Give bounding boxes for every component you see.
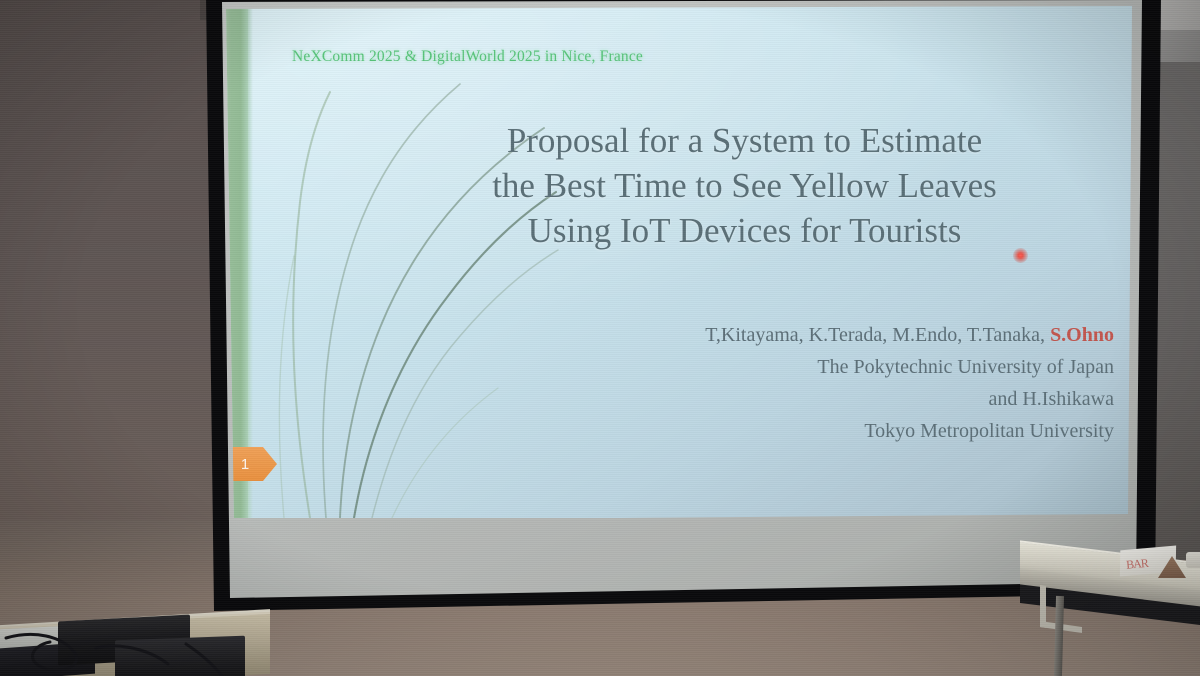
title-line-1: Proposal for a System to Estimate — [372, 118, 1117, 163]
slide-header-conference: NeXComm 2025 & DigitalWorld 2025 in Nice… — [292, 48, 643, 66]
black-device-front — [115, 636, 245, 676]
laser-pointer-dot-icon — [1013, 248, 1028, 263]
cup-on-table — [1186, 552, 1200, 568]
slide-authors-block: T,Kitayama, K.Terada, M.Endo, T.Tanaka, … — [414, 319, 1114, 447]
conference-room-photo: NeXComm 2025 & DigitalWorld 2025 in Nice… — [0, 0, 1200, 676]
presentation-slide: NeXComm 2025 & DigitalWorld 2025 in Nice… — [222, 6, 1132, 518]
affiliation-line-3: Tokyo Metropolitan University — [414, 415, 1114, 447]
slide-band-edge — [248, 6, 253, 518]
affiliation-line-2: and H.Ishikawa — [414, 383, 1114, 415]
author-names-plain: T,Kitayama, K.Terada, M.Endo, T.Tanaka, — [705, 324, 1050, 346]
title-line-2: the Best Time to See Yellow Leaves — [372, 163, 1117, 208]
affiliation-line-1: The Pokytechnic University of Japan — [414, 351, 1114, 383]
author-highlighted-name: S.Ohno — [1050, 324, 1114, 346]
author-names-line: T,Kitayama, K.Terada, M.Endo, T.Tanaka, … — [414, 319, 1114, 351]
title-line-3: Using IoT Devices for Tourists — [372, 208, 1117, 253]
slide-page-number-badge: 1 — [227, 447, 277, 481]
slide-title: Proposal for a System to Estimate the Be… — [372, 118, 1117, 253]
